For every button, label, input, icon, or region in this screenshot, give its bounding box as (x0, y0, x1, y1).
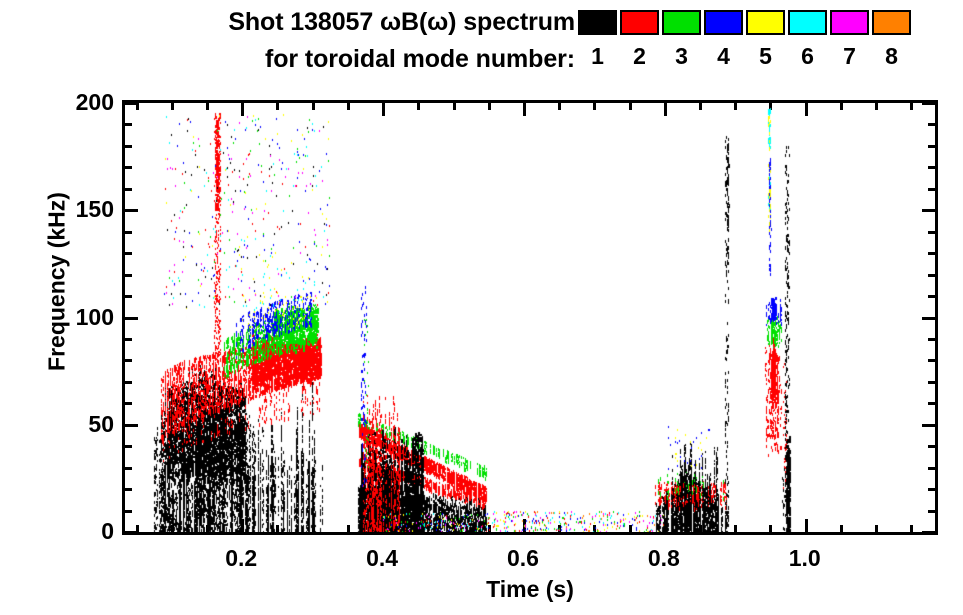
y-tick-label-50: 50 (50, 413, 114, 436)
x-axis-label: Time (s) (122, 576, 938, 603)
title-line-2: for toroidal mode number: (0, 41, 575, 78)
y-axis-label: Frequency (kHz) (44, 132, 71, 432)
y-tick-label-0: 0 (50, 520, 114, 543)
y-tick-label-100: 100 (50, 306, 114, 329)
spectrogram-data (125, 103, 935, 532)
legend-swatch-5 (746, 10, 785, 35)
legend-label-3: 3 (662, 43, 701, 70)
legend-swatches (578, 10, 911, 35)
axis-right (935, 100, 938, 535)
legend-label-7: 7 (830, 43, 869, 70)
y-tick-label-150: 150 (50, 198, 114, 221)
legend: 12345678 (578, 10, 958, 90)
figure-title: Shot 138057 ωB(ω) spectrum for toroidal … (0, 4, 575, 78)
legend-label-2: 2 (620, 43, 659, 70)
legend-label-1: 1 (578, 43, 617, 70)
legend-swatch-7 (830, 10, 869, 35)
legend-swatch-1 (578, 10, 617, 35)
legend-label-6: 6 (788, 43, 827, 70)
legend-swatch-8 (872, 10, 911, 35)
legend-label-4: 4 (704, 43, 743, 70)
legend-swatch-6 (788, 10, 827, 35)
legend-labels: 12345678 (578, 43, 911, 70)
x-tick-label-0.4: 0.4 (342, 547, 422, 570)
legend-label-5: 5 (746, 43, 785, 70)
x-tick-label-0.2: 0.2 (201, 547, 281, 570)
x-tick-label-0.8: 0.8 (624, 547, 704, 570)
legend-label-8: 8 (872, 43, 911, 70)
x-tick-label-0.6: 0.6 (483, 547, 563, 570)
legend-swatch-2 (620, 10, 659, 35)
x-tick-label-1: 1.0 (765, 547, 845, 570)
spectrogram-figure: Shot 138057 ωB(ω) spectrum for toroidal … (0, 0, 963, 615)
title-line-1: Shot 138057 ωB(ω) spectrum (0, 4, 575, 41)
legend-swatch-3 (662, 10, 701, 35)
plot-area (122, 100, 938, 535)
y-tick-label-200: 200 (50, 91, 114, 114)
legend-swatch-4 (704, 10, 743, 35)
axis-bottom (122, 532, 938, 535)
